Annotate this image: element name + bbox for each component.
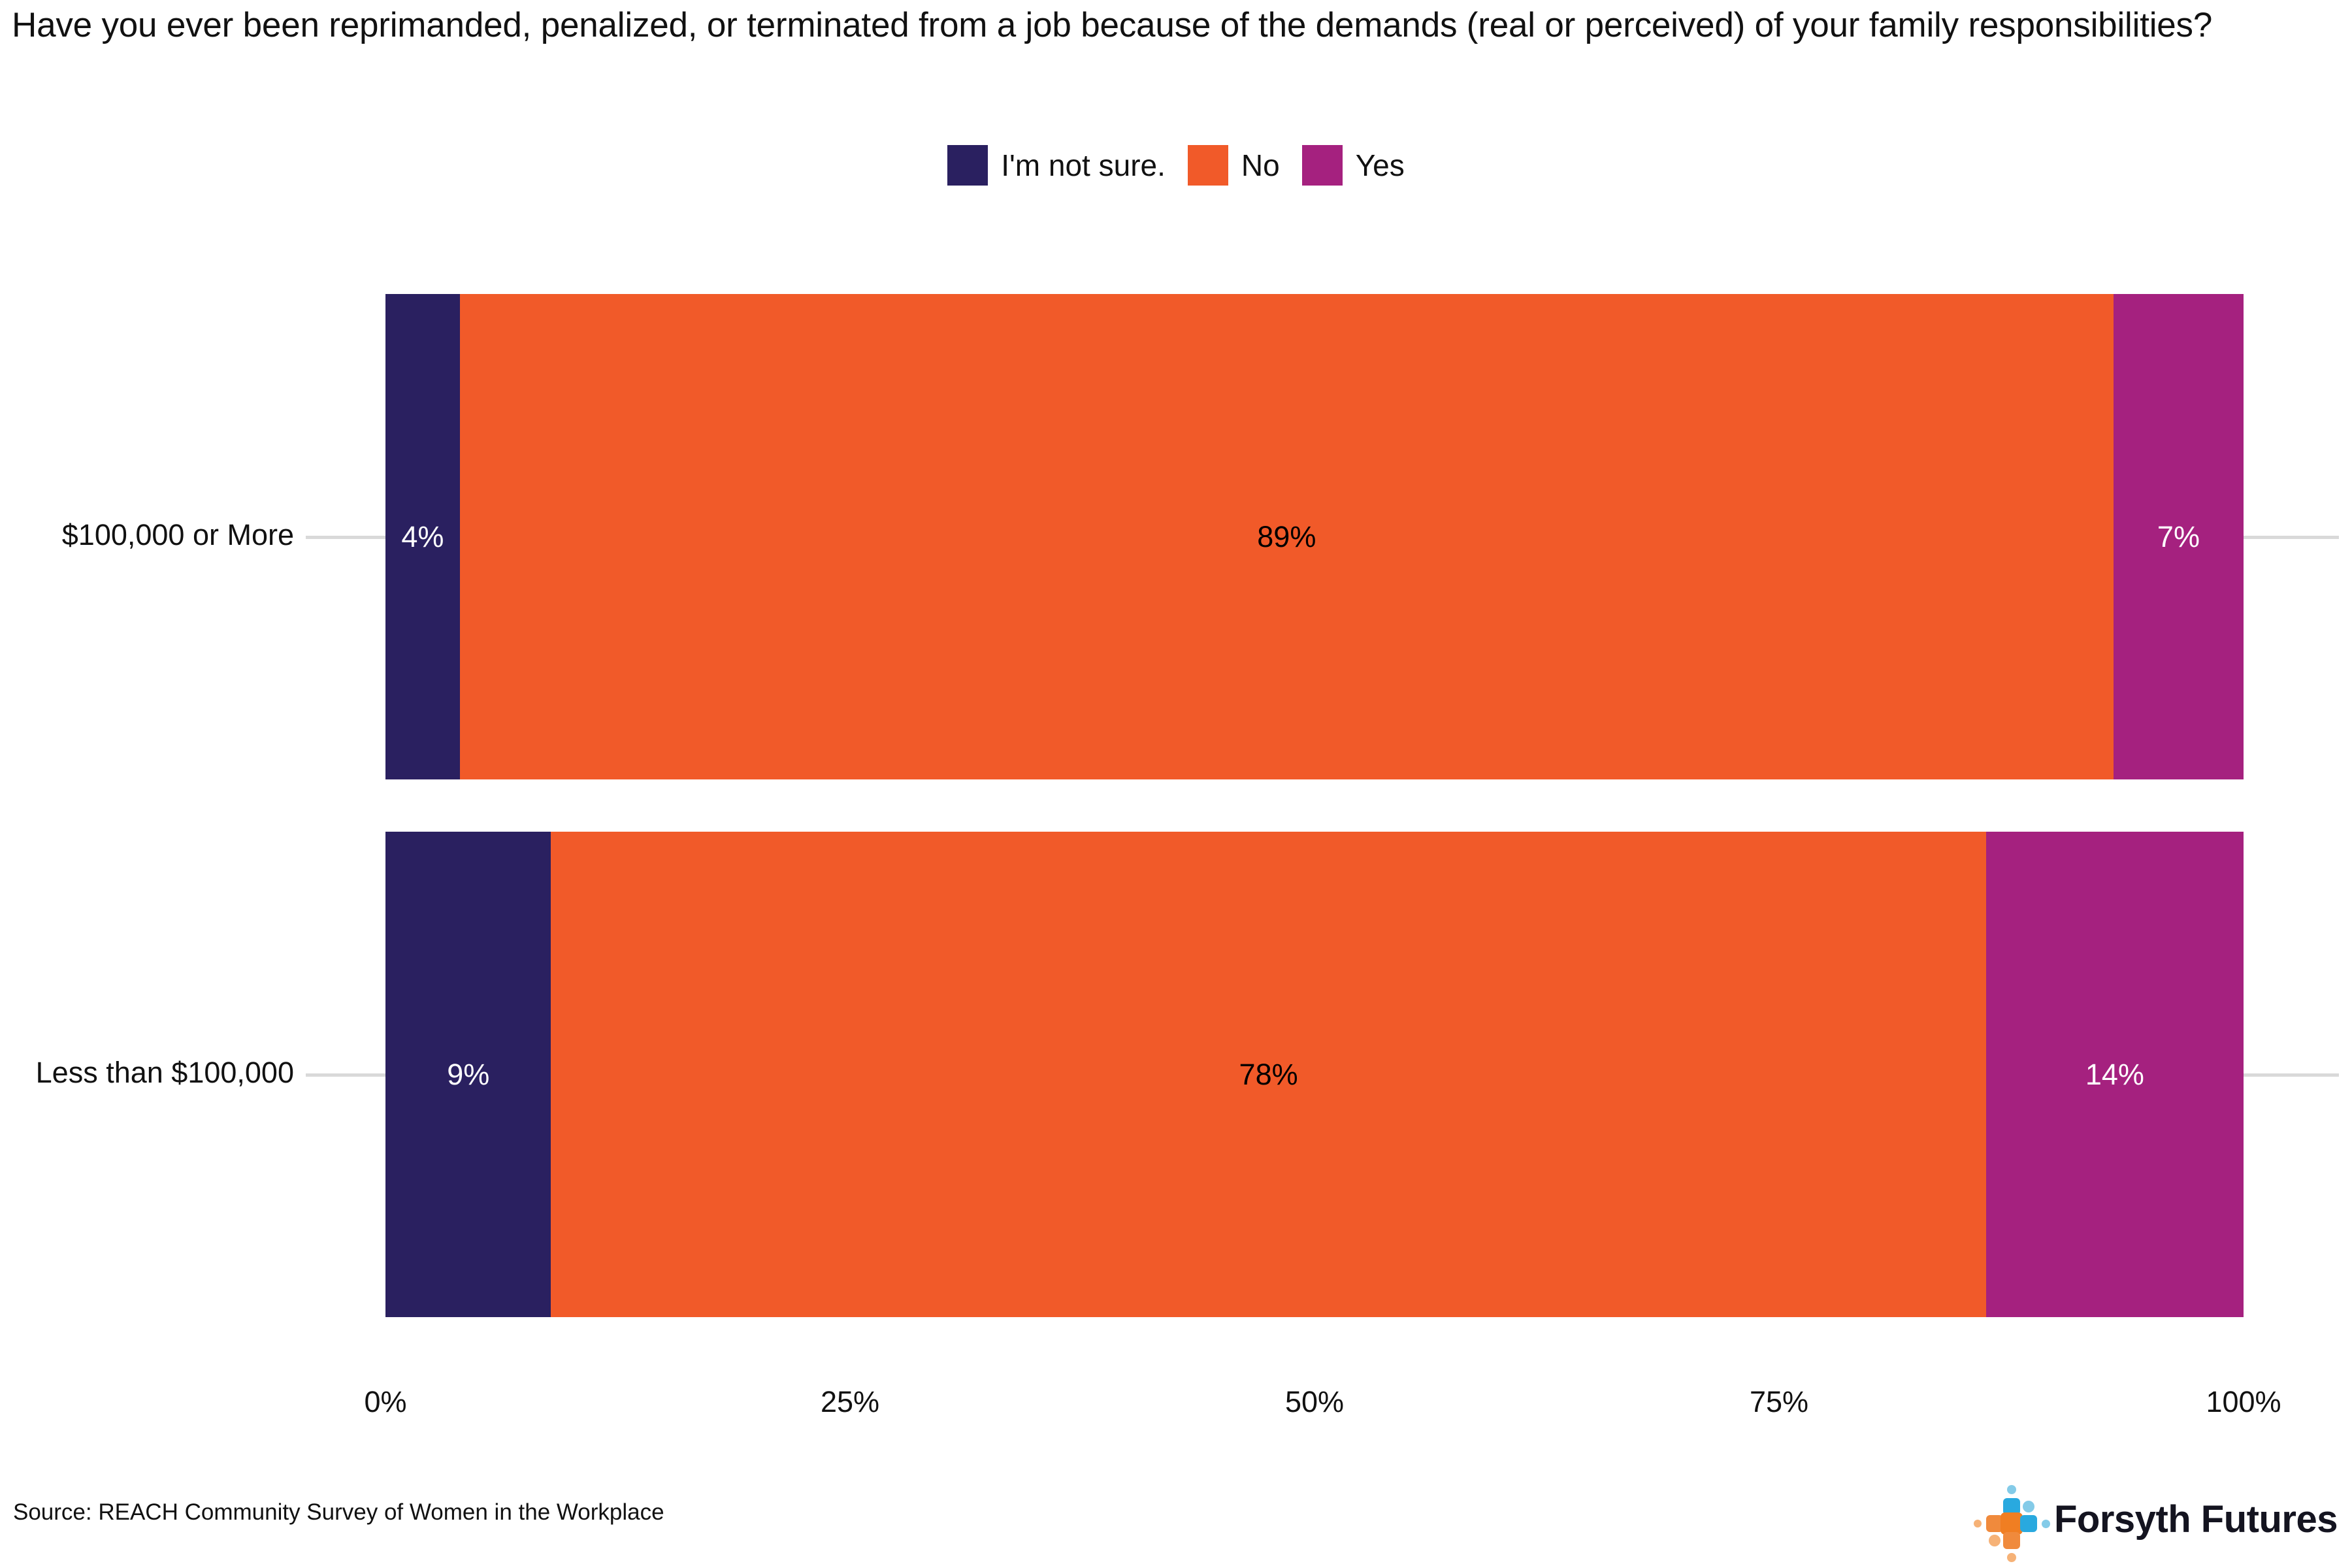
- stacked-bar[interactable]: 9%78%14%: [385, 832, 2244, 1317]
- bar-segment-value-label: 14%: [2085, 1060, 2144, 1089]
- bar-row: $100,000 or More4%89%7%: [0, 294, 2352, 779]
- category-tick-line: [306, 536, 385, 539]
- bar-segment-value-label: 89%: [1257, 522, 1316, 551]
- bar-segment-value-label: 4%: [401, 522, 444, 551]
- logo-dot: [2023, 1501, 2034, 1512]
- bar-segment-value-label: 78%: [1239, 1060, 1298, 1089]
- forsyth-futures-logo: Forsyth Futures: [1965, 1477, 2338, 1561]
- category-label: Less than $100,000: [36, 1056, 294, 1090]
- bar-row: Less than $100,0009%78%14%: [0, 832, 2352, 1317]
- source-note: Source: REACH Community Survey of Women …: [13, 1499, 664, 1526]
- x-axis-tick-label: 75%: [1750, 1385, 1808, 1419]
- bar-segment[interactable]: 7%: [2114, 294, 2244, 779]
- bar-segment[interactable]: 89%: [460, 294, 2114, 779]
- category-label: $100,000 or More: [62, 518, 294, 552]
- category-tick-line-right: [2244, 536, 2339, 539]
- bar-segment[interactable]: 14%: [1986, 832, 2244, 1317]
- bar-segment-value-label: 7%: [2157, 522, 2200, 551]
- forsyth-futures-wordmark: Forsyth Futures: [2054, 1497, 2338, 1541]
- logo-dot: [2020, 1515, 2037, 1532]
- bar-segment[interactable]: 9%: [385, 832, 551, 1317]
- bar-segment-value-label: 9%: [447, 1060, 489, 1089]
- logo-dot: [2007, 1553, 2016, 1562]
- logo-dot: [2007, 1485, 2016, 1494]
- x-axis-tick-label: 100%: [2206, 1385, 2281, 1419]
- category-tick-line: [306, 1073, 385, 1077]
- logo-dot: [2003, 1532, 2020, 1549]
- x-axis-tick-label: 25%: [821, 1385, 879, 1419]
- x-axis-tick-label: 0%: [364, 1385, 406, 1419]
- x-axis: 0%25%50%75%100%: [0, 1379, 2352, 1437]
- logo-dot: [2001, 1512, 2023, 1535]
- logo-dot: [1989, 1535, 2001, 1546]
- chart-page: Have you ever been reprimanded, penalize…: [0, 0, 2352, 1568]
- x-axis-tick-label: 50%: [1285, 1385, 1344, 1419]
- forsyth-futures-logo-mark: [1965, 1477, 2049, 1561]
- logo-dot: [2042, 1520, 2050, 1528]
- logo-dot: [1974, 1520, 1982, 1527]
- bar-segment[interactable]: 4%: [385, 294, 460, 779]
- category-tick-line-right: [2244, 1073, 2339, 1077]
- stacked-bar[interactable]: 4%89%7%: [385, 294, 2244, 779]
- plot-area: $100,000 or More4%89%7%Less than $100,00…: [0, 0, 2352, 1568]
- bar-segment[interactable]: 78%: [551, 832, 1985, 1317]
